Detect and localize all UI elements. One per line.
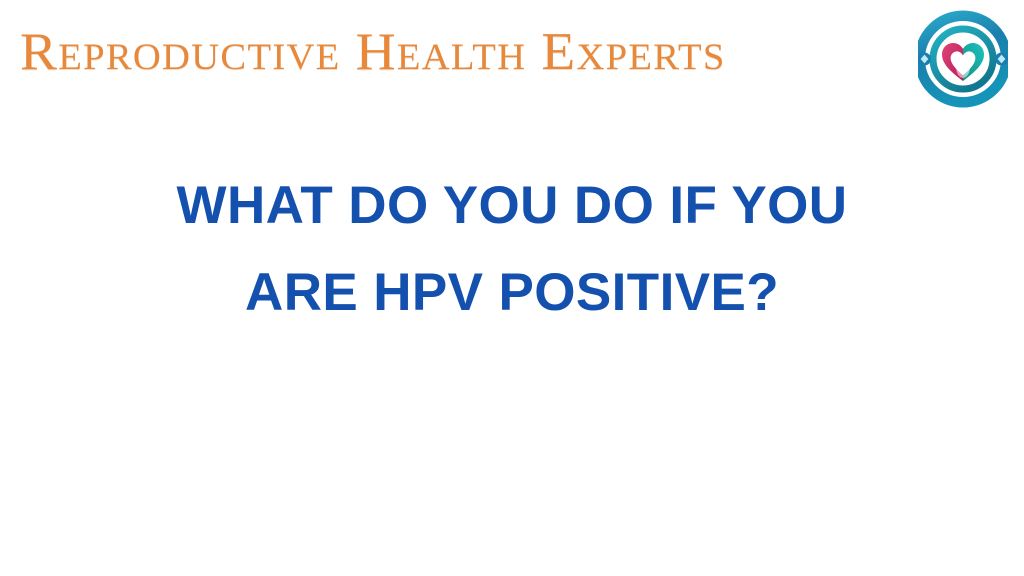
logo-heart-inner-wash [956,56,970,78]
brand-wordmark[interactable]: Reproductive Health Experts [20,24,908,80]
brand-logo[interactable] [918,9,1008,109]
page-root: Reproductive Health Experts [0,0,1024,576]
page-title: WHAT DO YOU DO IF YOU ARE HPV POSITIVE? [0,162,1024,336]
page-title-line-1: WHAT DO YOU DO IF YOU [0,162,1024,249]
site-header: Reproductive Health Experts [0,0,1024,118]
content-blank-area [0,330,1024,576]
logo-gem-right [995,53,1008,66]
page-title-line-2: ARE HPV POSITIVE? [0,249,1024,336]
logo-gem-left [918,53,931,66]
